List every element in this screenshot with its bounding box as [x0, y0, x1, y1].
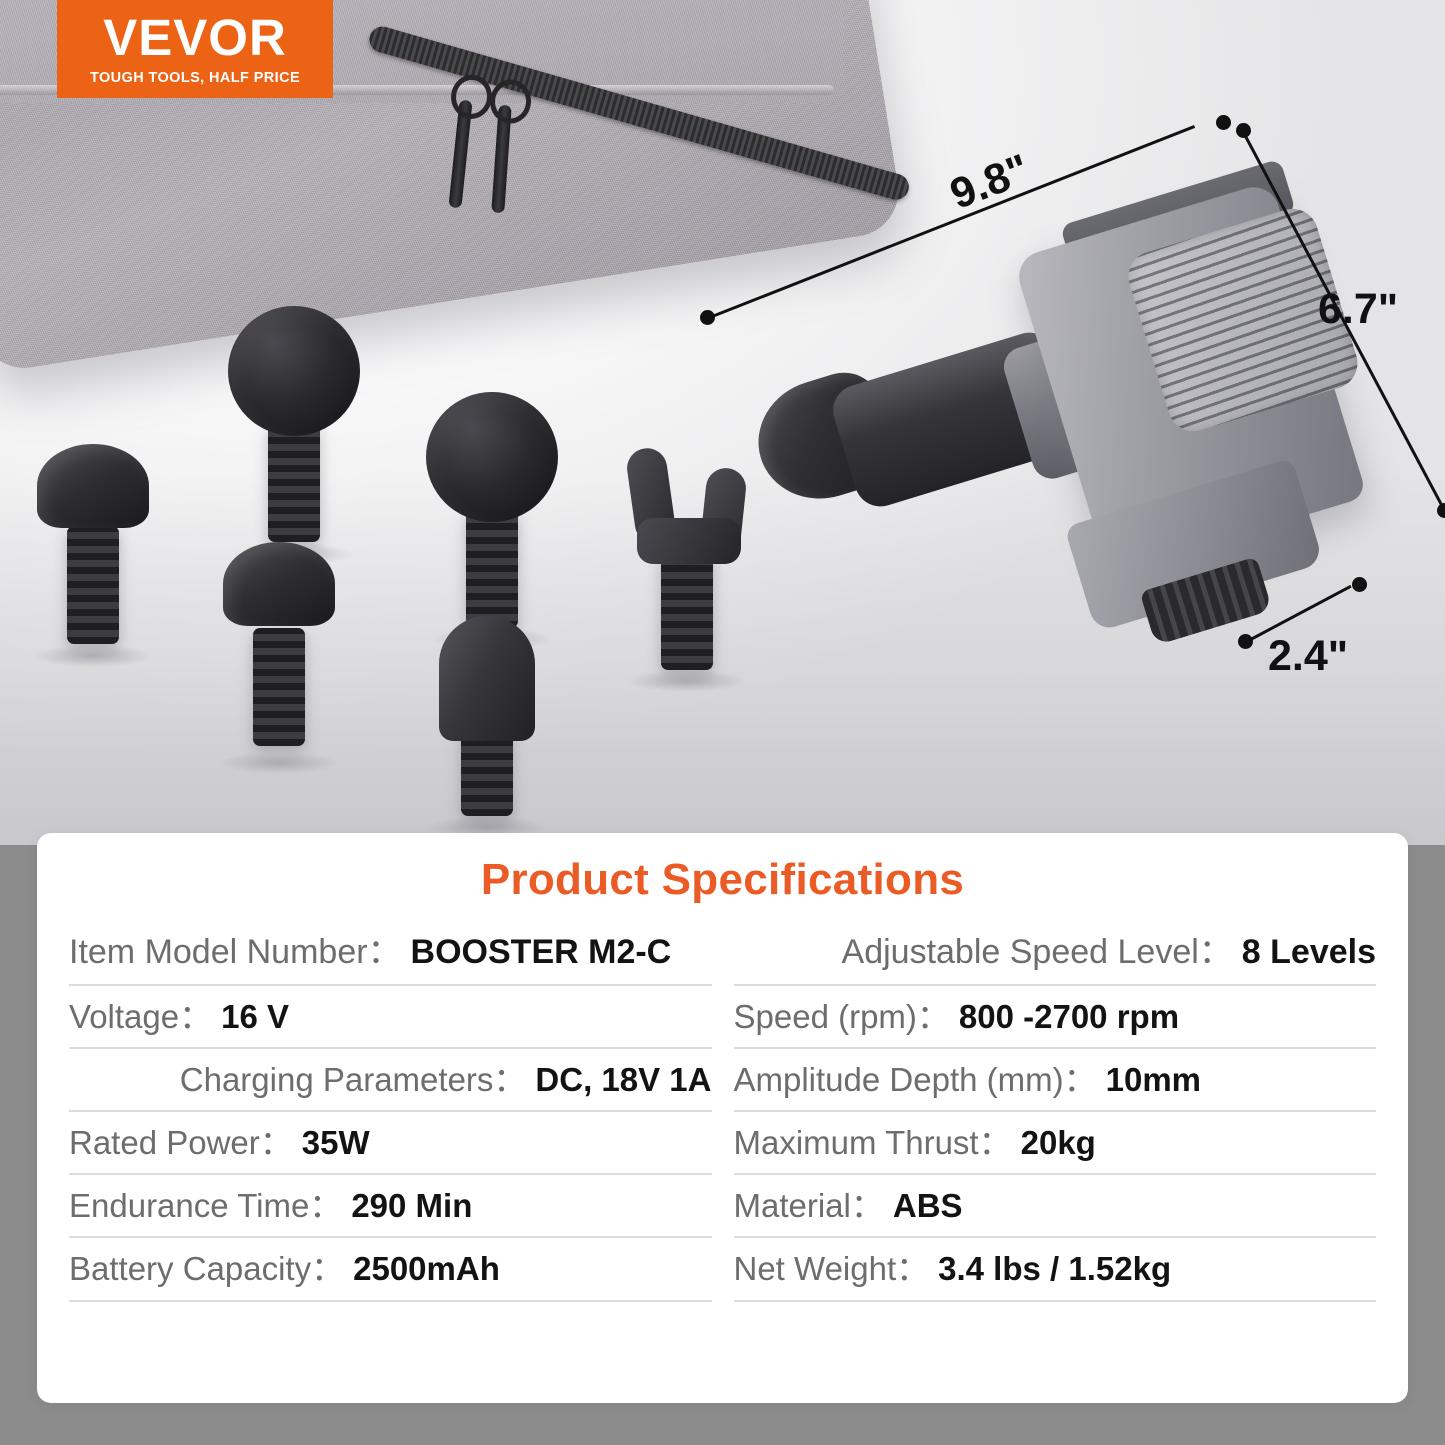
spec-value: 16 V	[221, 998, 289, 1035]
attachment-flat-head	[33, 430, 153, 660]
attachment-bullet-head	[432, 608, 542, 838]
page-title: Product Specifications	[37, 855, 1408, 905]
spec-value: BOOSTER M2-C	[411, 933, 672, 971]
spec-label: Item Model Number：	[69, 933, 402, 971]
product-hero-image: 9.8" 6.7" 2.4" VEVOR TOUGH TOOLS, HALF P…	[0, 0, 1445, 845]
spec-value: 35W	[302, 1124, 370, 1161]
vevor-tagline: TOUGH TOOLS, HALF PRICE	[90, 70, 300, 86]
attachment-ball-head-small	[424, 390, 559, 645]
spec-label: Battery Capacity：	[69, 1250, 344, 1287]
spec-row-charging-parameters: Charging Parameters：DC, 18V 1A	[69, 1049, 712, 1112]
spec-row-endurance-time: Endurance Time：290 Min	[69, 1175, 712, 1238]
spec-value: 290 Min	[351, 1187, 472, 1224]
vevor-logo: VEVOR TOUGH TOOLS, HALF PRICE	[57, 0, 333, 98]
spec-row-voltage: Voltage：16 V	[69, 986, 712, 1049]
spec-row-amplitude-depth: Amplitude Depth (mm)：10mm	[734, 1049, 1377, 1112]
spec-label: Speed (rpm)：	[734, 998, 950, 1035]
spec-row-rated-power: Rated Power：35W	[69, 1112, 712, 1175]
spec-label: Charging Parameters：	[180, 1061, 527, 1098]
specifications-grid: Item Model Number：BOOSTER M2-C Adjustabl…	[37, 905, 1408, 1302]
spec-value: 20kg	[1021, 1124, 1096, 1161]
product-specifications-card: Product Specifications Item Model Number…	[37, 833, 1408, 1403]
spec-value: 8 Levels	[1242, 933, 1376, 971]
attachment-fork-head	[614, 440, 759, 690]
dimension-depth-label: 2.4"	[1268, 632, 1348, 681]
spec-label: Net Weight：	[734, 1250, 930, 1287]
spec-row-battery-capacity: Battery Capacity：2500mAh	[69, 1238, 712, 1301]
spec-row-maximum-thrust: Maximum Thrust：20kg	[734, 1112, 1377, 1175]
spec-label: Rated Power：	[69, 1124, 293, 1161]
massage-gun	[745, 205, 1385, 665]
spec-row-adjustable-speed-level: Adjustable Speed Level：8 Levels	[734, 921, 1377, 986]
spec-label: Amplitude Depth (mm)：	[734, 1061, 1097, 1098]
spec-row-material: Material：ABS	[734, 1175, 1377, 1238]
spec-row-speed-rpm: Speed (rpm)：800 -2700 rpm	[734, 986, 1377, 1049]
spec-value: 3.4 lbs / 1.52kg	[938, 1250, 1171, 1287]
spec-value: 2500mAh	[353, 1250, 500, 1287]
attachment-cone-head	[216, 520, 341, 770]
spec-label: Endurance Time：	[69, 1187, 342, 1224]
spec-value: ABS	[893, 1187, 963, 1224]
spec-label: Adjustable Speed Level：	[842, 933, 1233, 971]
spec-label: Material：	[734, 1187, 884, 1224]
spec-row-net-weight: Net Weight：3.4 lbs / 1.52kg	[734, 1238, 1377, 1301]
spec-row-item-model-number: Item Model Number：BOOSTER M2-C	[69, 921, 712, 986]
spec-value: 10mm	[1106, 1061, 1201, 1098]
spec-value: DC, 18V 1A	[535, 1061, 711, 1098]
vevor-brand-name: VEVOR	[103, 12, 287, 63]
dimension-height-label: 6.7"	[1318, 285, 1398, 334]
spec-label: Maximum Thrust：	[734, 1124, 1012, 1161]
spec-label: Voltage：	[69, 998, 212, 1035]
spec-value: 800 -2700 rpm	[959, 998, 1179, 1035]
